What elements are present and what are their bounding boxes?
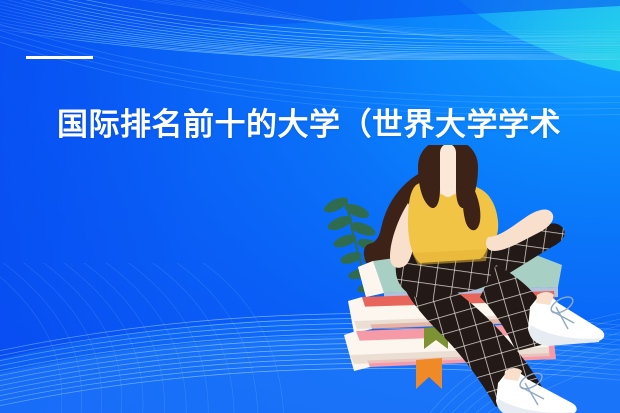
article-cover-banner: 国际排名前十的大学（世界大学学术 [0,0,620,413]
bookmark-orange [416,358,442,389]
page-title: 国际排名前十的大学（世界大学学术 [57,106,620,144]
title-divider-rule [26,56,93,59]
student-sitting-on-books-illustration [300,145,620,413]
